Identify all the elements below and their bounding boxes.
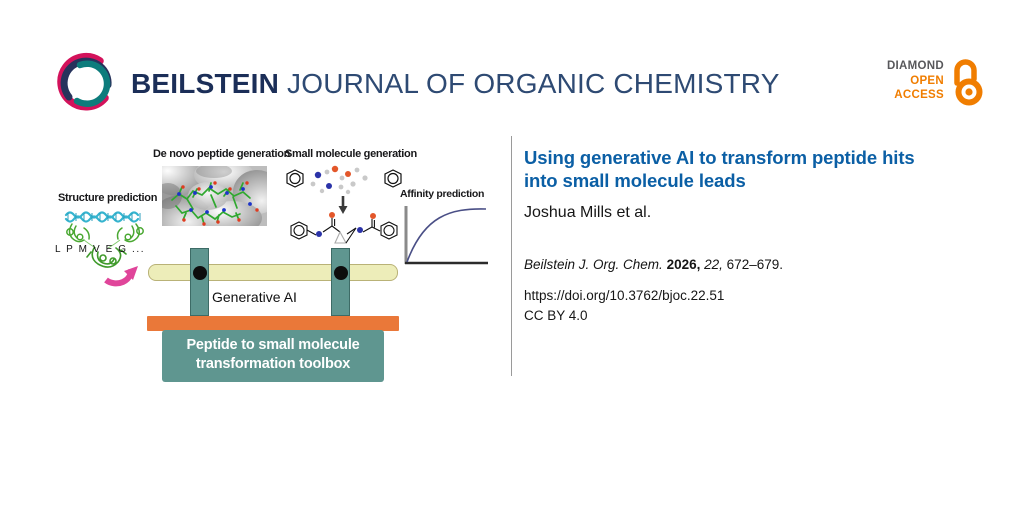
affinity-prediction-plot <box>398 202 490 274</box>
citation-volume: 22, <box>704 257 723 272</box>
toolbox-caption-line1: Peptide to small molecule <box>162 336 384 355</box>
article-license[interactable]: CC BY 4.0 <box>524 308 588 323</box>
article-citation: Beilstein J. Org. Chem. 2026, 22, 672–67… <box>524 257 783 272</box>
toolbox-body: Peptide to small molecule transformation… <box>162 330 384 382</box>
toolbox-top-bar <box>147 316 399 331</box>
brand-title: BEILSTEIN JOURNAL OF ORGANIC CHEMISTRY <box>131 68 780 100</box>
toolbox-assembly: Generative AI Peptide to small molecule … <box>148 232 398 376</box>
toolbox-caption: Peptide to small molecule transformation… <box>162 336 384 374</box>
label-small-molecule-generation: Small molecule generation <box>285 148 417 160</box>
open-lock-icon <box>950 57 988 107</box>
citation-journal: Beilstein J. Org. Chem. <box>524 257 663 272</box>
brand-title-light: JOURNAL OF ORGANIC CHEMISTRY <box>279 68 780 99</box>
balance-pivot-left <box>193 266 207 280</box>
label-structure-prediction: Structure prediction <box>58 192 157 204</box>
label-denovo-peptide-generation: De novo peptide generation <box>153 148 290 160</box>
article-title[interactable]: Using generative AI to transform peptide… <box>524 146 944 192</box>
brand-title-strong: BEILSTEIN <box>131 68 279 99</box>
page-header: BEILSTEIN JOURNAL OF ORGANIC CHEMISTRY D… <box>0 0 1024 128</box>
badge-line-open: OPEN <box>872 74 944 89</box>
transformation-arrow-icon <box>100 249 142 289</box>
balance-post-left <box>190 248 209 316</box>
open-access-badge-words: DIAMOND OPEN ACCESS <box>872 59 944 103</box>
toolbox-caption-line2: transformation toolbox <box>162 355 384 374</box>
graphical-abstract: Structure prediction De novo peptide gen… <box>40 136 496 376</box>
article-authors: Joshua Mills et al. <box>524 204 651 222</box>
balance-pivot-right <box>334 266 348 280</box>
citation-year: 2026, <box>667 257 701 272</box>
badge-line-diamond: DIAMOND <box>872 59 944 74</box>
citation-pages: 672–679. <box>727 257 783 272</box>
panel-divider <box>511 136 512 376</box>
article-metadata-panel: Using generative AI to transform peptide… <box>524 136 964 376</box>
balance-beam <box>148 264 398 281</box>
badge-line-access: ACCESS <box>872 88 944 103</box>
open-access-badge: DIAMOND OPEN ACCESS <box>872 57 988 109</box>
generative-ai-label: Generative AI <box>212 289 297 305</box>
peptide-surface-image <box>162 166 267 226</box>
balance-post-right <box>331 248 350 316</box>
label-affinity-prediction: Affinity prediction <box>400 188 484 200</box>
article-doi-link[interactable]: https://doi.org/10.3762/bjoc.22.51 <box>524 288 724 303</box>
beilstein-swirl-logo <box>56 52 120 116</box>
